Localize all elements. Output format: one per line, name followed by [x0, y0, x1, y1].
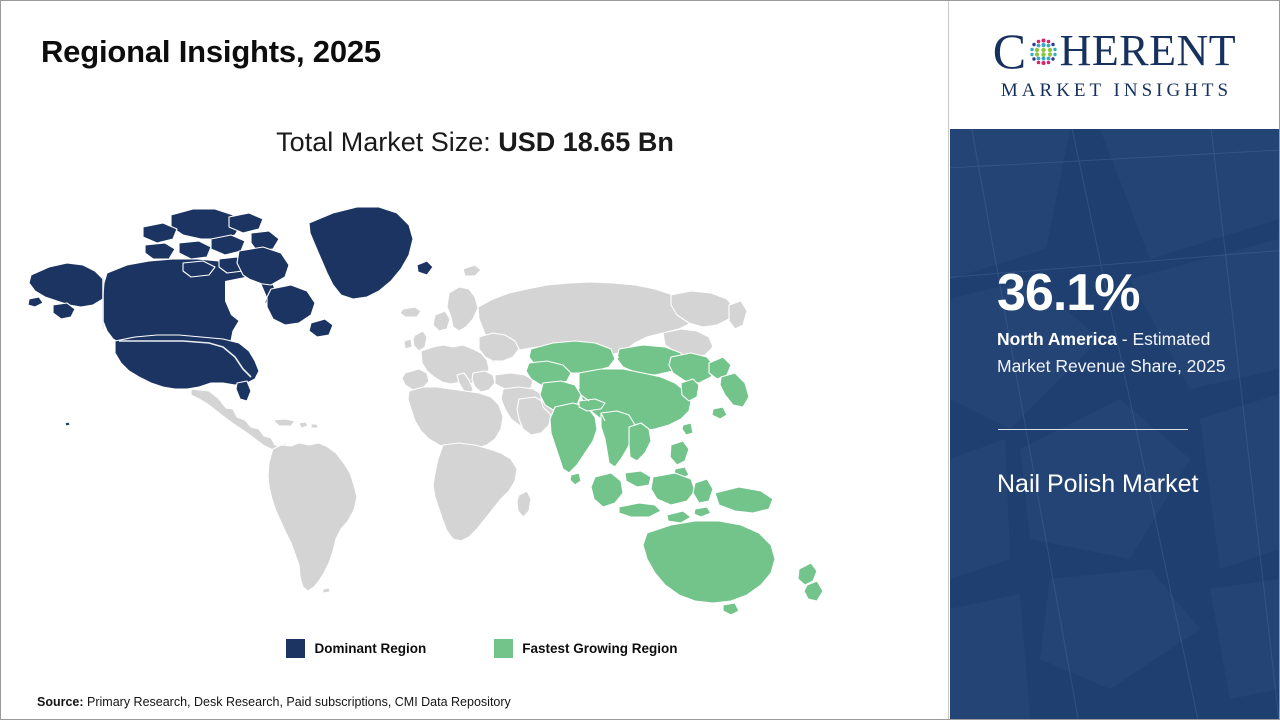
- stat-divider-rule: [998, 429, 1188, 430]
- fastest-growing-region-group: [526, 341, 823, 615]
- stat-percentage: 36.1%: [997, 267, 1139, 319]
- page-title: Regional Insights, 2025: [41, 34, 381, 70]
- logo-word-rest: HERENT: [1060, 29, 1237, 73]
- source-text: Primary Research, Desk Research, Paid su…: [84, 695, 511, 709]
- legend-swatch-fastest-growing: [494, 639, 513, 658]
- panel-divider: [948, 1, 949, 719]
- logo-wordmark: C: [970, 26, 1260, 76]
- dominant-region-group: [28, 207, 433, 426]
- legend-label-dominant: Dominant Region: [314, 641, 426, 656]
- legend-label-fastest-growing: Fastest Growing Region: [522, 641, 677, 656]
- left-panel: Regional Insights, 2025 Total Market Siz…: [1, 1, 949, 719]
- market-size-label: Total Market Size:: [276, 127, 498, 157]
- legend-item-dominant: Dominant Region: [286, 639, 426, 658]
- legend-swatch-dominant: [286, 639, 305, 658]
- market-name: Nail Polish Market: [997, 467, 1237, 501]
- logo-subtitle: MARKET INSIGHTS: [970, 80, 1260, 102]
- globe-icon: [1028, 36, 1059, 67]
- map-legend: Dominant Region Fastest Growing Region: [1, 639, 949, 658]
- infographic-page: Regional Insights, 2025 Total Market Siz…: [0, 0, 1280, 720]
- right-panel: C: [950, 1, 1279, 719]
- logo-letter-c: C: [993, 26, 1027, 76]
- source-note: Source: Primary Research, Desk Research,…: [37, 695, 511, 709]
- brand-logo: C: [950, 1, 1279, 129]
- stats-panel: 36.1% North America - Estimated Market R…: [950, 129, 1279, 719]
- world-map: [23, 177, 833, 617]
- source-label: Source:: [37, 695, 84, 709]
- total-market-size: Total Market Size: USD 18.65 Bn: [1, 127, 949, 158]
- market-size-value: USD 18.65 Bn: [498, 127, 674, 157]
- stat-region-name: North America: [997, 329, 1117, 349]
- stat-description: North America - Estimated Market Revenue…: [997, 326, 1243, 379]
- legend-item-fastest-growing: Fastest Growing Region: [494, 639, 677, 658]
